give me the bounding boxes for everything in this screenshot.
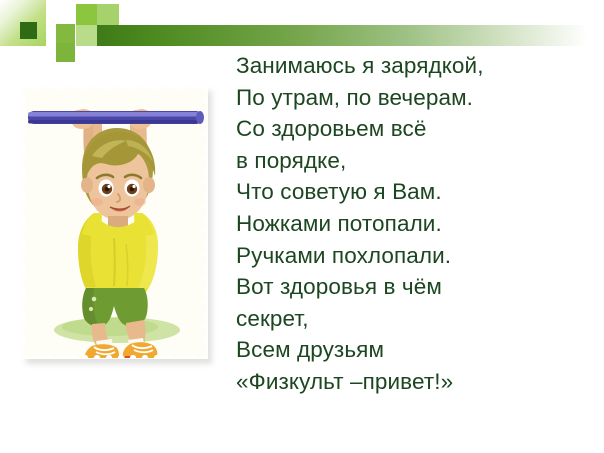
boy-hanging-on-bar-illustration <box>22 86 208 359</box>
poem-line: «Физкульт –привет!» <box>236 366 588 398</box>
poem-line: Занимаюсь я зарядкой, <box>236 50 588 82</box>
pale-green-square-icon <box>76 25 97 46</box>
illustration-stamp <box>22 86 208 359</box>
poem-line: в порядке, <box>236 145 588 177</box>
green-mosaic-banner <box>0 0 604 46</box>
light-green-square-icon-1 <box>76 4 97 25</box>
poem-line: секрет, <box>236 303 588 335</box>
slide: Занимаюсь я зарядкой, По утрам, по вечер… <box>0 0 604 453</box>
light-green-square-icon-2 <box>97 4 119 25</box>
mid-green-square-icon-2 <box>56 43 75 62</box>
poem-line: По утрам, по вечерам. <box>236 82 588 114</box>
stamp-frame <box>22 86 208 359</box>
dark-green-square-icon <box>20 22 37 39</box>
mid-green-square-icon-1 <box>56 24 75 43</box>
poem-line: Всем друзьям <box>236 334 588 366</box>
poem-line: Ножками потопали. <box>236 208 588 240</box>
poem-line: Вот здоровья в чём <box>236 271 588 303</box>
poem-text-block: Занимаюсь я зарядкой, По утрам, по вечер… <box>236 50 588 398</box>
poem-line: Что советую я Вам. <box>236 176 588 208</box>
green-gradient-bar <box>97 25 587 46</box>
poem-line: Ручками похлопали. <box>236 240 588 272</box>
poem-line: Со здоровьем всё <box>236 113 588 145</box>
